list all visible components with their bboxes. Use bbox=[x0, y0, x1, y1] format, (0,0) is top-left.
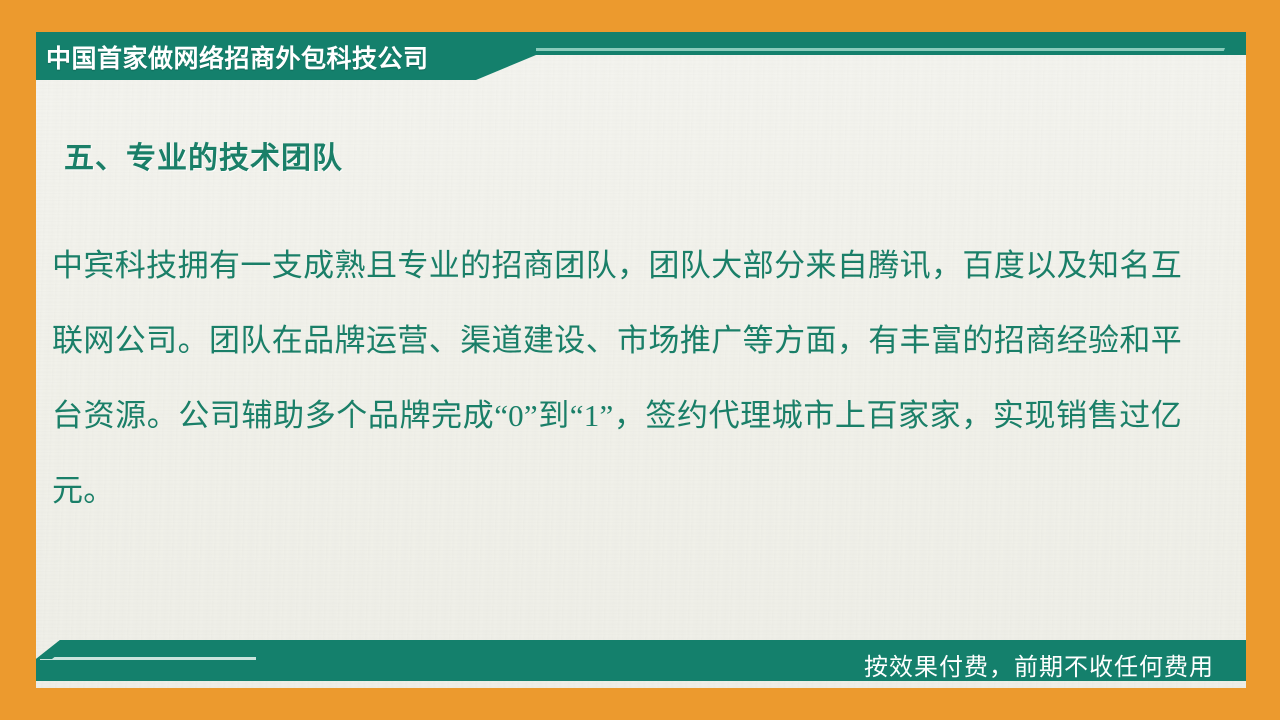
body-text-block: 中宾科技拥有一支成熟且专业的招商团队，团队大部分来自腾讯，百度以及知名互联网公司… bbox=[52, 228, 1182, 528]
footer-tagline: 按效果付费，前期不收任何费用 bbox=[864, 645, 1214, 683]
slide-root: 中国首家做网络招商外包科技公司 五、专业的技术团队 中宾科技拥有一支成熟且专业的… bbox=[0, 0, 1280, 720]
section-title: 五、专业的技术团队 bbox=[64, 133, 343, 177]
header-title: 中国首家做网络招商外包科技公司 bbox=[46, 36, 429, 78]
body-paragraph: 中宾科技拥有一支成熟且专业的招商团队，团队大部分来自腾讯，百度以及知名互联网公司… bbox=[52, 228, 1182, 528]
